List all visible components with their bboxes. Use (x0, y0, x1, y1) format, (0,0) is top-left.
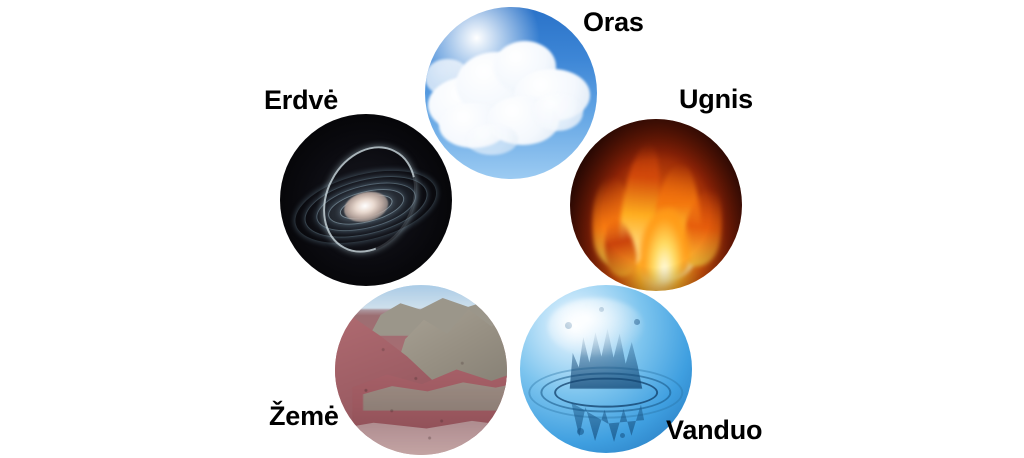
cloud-shape (532, 93, 584, 131)
water-droplet (577, 428, 584, 435)
label-earth: Žemė (269, 403, 339, 430)
element-circle-fire[interactable] (570, 119, 742, 291)
fire-vignette (570, 119, 742, 291)
label-fire: Ugnis (679, 86, 753, 113)
diagram-canvas: Oras Erdvė Ugnis Žemė (0, 0, 1024, 458)
label-air: Oras (583, 9, 644, 36)
label-water: Vanduo (666, 417, 762, 444)
sphere-highlight (548, 298, 644, 355)
element-circle-space[interactable] (280, 114, 452, 286)
terrain-speckle (335, 285, 507, 455)
water-droplet (620, 433, 625, 438)
cloud-shape (466, 124, 518, 155)
label-space: Erdvė (264, 87, 338, 114)
element-circle-earth[interactable] (335, 285, 507, 455)
element-circle-air[interactable] (425, 7, 597, 179)
